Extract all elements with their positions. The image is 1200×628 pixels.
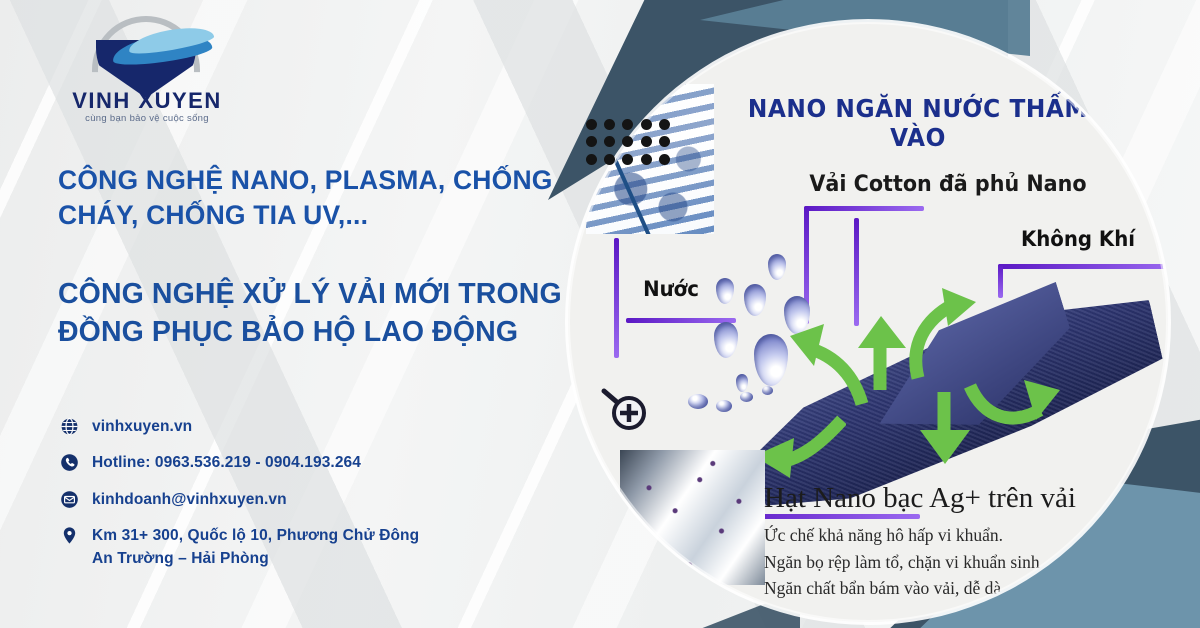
page-title: CÔNG NGHỆ XỬ LÝ VẢI MỚI TRONG ĐỒNG PHỤC … <box>58 275 603 351</box>
illustration-title: NANO NGĂN NƯỚC THẤM VÀO <box>723 94 1114 152</box>
address-line-1: Km 31+ 300, Quốc lộ 10, Phương Chử Đông <box>92 527 419 544</box>
nano-fiber-microscope-photo <box>620 450 765 585</box>
water-bead-on-fabric <box>716 400 732 412</box>
nano-technology-illustration: NANO NGĂN NƯỚC THẤM VÀO Vải Cotton đã ph… <box>568 22 1168 622</box>
water-droplet <box>714 322 738 358</box>
company-logo[interactable]: VINH XUYEN cùng bạn bảo vệ cuộc sống <box>52 14 242 124</box>
contact-address-text: Km 31+ 300, Quốc lộ 10, Phương Chử Đông … <box>92 524 419 571</box>
wave-bowl-logo-icon <box>84 14 208 88</box>
leader-line-left-vertical <box>614 238 619 358</box>
nano-benefit-line: Ức chế khả năng hô hấp vi khuẩn. <box>764 522 1164 549</box>
nano-benefit-line: Ngăn bọ rệp làm tổ, chặn vi khuẩn sinh <box>764 549 1164 576</box>
contact-hotline-text: Hotline: 0963.536.219 - 0904.193.264 <box>92 451 361 474</box>
title-line-1: CÔNG NGHỆ XỬ LÝ VẢI MỚI TRONG <box>58 275 603 313</box>
logo-tagline: cùng bạn bảo vệ cuộc sống <box>52 113 242 124</box>
water-droplet <box>736 374 748 392</box>
phone-icon <box>60 453 79 472</box>
subheading-line-2: CHÁY, CHỐNG TIA UV,... <box>58 200 368 230</box>
subheading-technologies: CÔNG NGHỆ NANO, PLASMA, CHỐNG CHÁY, CHỐN… <box>58 163 558 233</box>
magnifier-plus-icon[interactable] <box>600 385 654 439</box>
water-bead-on-fabric <box>688 394 708 409</box>
illustration-label-water: Nước <box>610 277 732 301</box>
location-pin-icon <box>60 526 79 545</box>
water-bead-on-fabric <box>762 386 773 395</box>
subheading-line-1: CÔNG NGHỆ NANO, PLASMA, CHỐNG <box>58 165 553 195</box>
nano-benefit-line: Ngăn chất bẩn bám vào vải, dễ dà <box>764 575 1164 602</box>
nano-silver-benefit-list: Ức chế khả năng hô hấp vi khuẩn. Ngăn bọ… <box>764 522 1164 602</box>
airflow-arrow-icon <box>778 322 878 408</box>
dot-grid-decoration <box>582 116 674 168</box>
address-line-2: An Trường – Hải Phòng <box>92 547 419 570</box>
water-droplet <box>768 254 786 280</box>
leader-line-water <box>626 318 736 323</box>
airflow-arrow-icon <box>962 352 1066 432</box>
title-line-2: ĐỒNG PHỤC BẢO HỘ LAO ĐỘNG <box>58 313 603 351</box>
contact-email-text: kinhdoanh@vinhxuyen.vn <box>92 488 287 511</box>
contact-row-email[interactable]: kinhdoanh@vinhxuyen.vn <box>60 488 530 511</box>
illustration-label-fabric: Vải Cotton đã phủ Nano <box>779 172 1117 197</box>
contact-row-address[interactable]: Km 31+ 300, Quốc lộ 10, Phương Chử Đông … <box>60 524 530 571</box>
leader-line-air <box>998 264 1168 269</box>
logo-company-name: VINH XUYEN <box>52 88 242 114</box>
leader-line-air-vertical <box>998 264 1003 298</box>
leader-line-fabric <box>804 206 924 211</box>
water-bead-on-fabric <box>740 392 753 402</box>
illustration-label-air: Không Khí <box>975 227 1168 251</box>
envelope-icon <box>60 490 79 509</box>
water-droplet <box>744 284 766 316</box>
contact-row-website[interactable]: vinhxuyen.vn <box>60 415 530 438</box>
leader-line-mid-vertical <box>854 218 859 326</box>
globe-icon <box>60 417 79 436</box>
nano-silver-heading: Hạt Nano bạc Ag+ trên vải <box>764 482 1168 515</box>
contact-row-hotline[interactable]: Hotline: 0963.536.219 - 0904.193.264 <box>60 451 530 474</box>
contact-list: vinhxuyen.vn Hotline: 0963.536.219 - 090… <box>60 415 530 583</box>
contact-website-text: vinhxuyen.vn <box>92 415 192 438</box>
banner-root: VINH XUYEN cùng bạn bảo vệ cuộc sống CÔN… <box>0 0 1200 628</box>
